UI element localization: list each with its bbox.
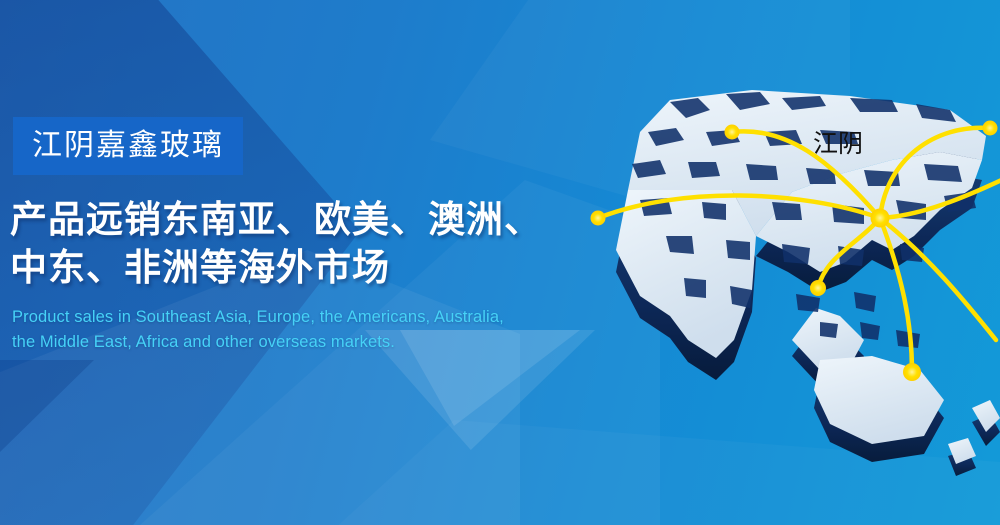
node-africa-west bbox=[591, 211, 606, 226]
world-map-graphic: 江阴 bbox=[520, 40, 1000, 480]
headline-line-2: 中东、非洲等海外市场 bbox=[10, 244, 570, 292]
node-australia bbox=[903, 363, 921, 381]
node-pacific-northeast bbox=[983, 121, 998, 136]
brand-badge-label: 江阴嘉鑫玻璃 bbox=[32, 131, 224, 161]
node-southeast-asia bbox=[810, 280, 826, 296]
background-facet-lower-dark bbox=[0, 360, 280, 525]
promo-banner: 江阴 江阴嘉鑫玻璃 产品远销东南亚、欧美、澳洲、 中东、非洲等海外市场 Prod… bbox=[0, 0, 1000, 525]
subtitle-line-2: the Middle East, Africa and other overse… bbox=[12, 330, 572, 355]
subtitle-line-1: Product sales in Southeast Asia, Europe,… bbox=[12, 305, 572, 330]
map-hub-label: 江阴 bbox=[813, 130, 863, 158]
headline-line-1: 产品远销东南亚、欧美、澳洲、 bbox=[10, 196, 570, 244]
landmass-africa bbox=[616, 190, 756, 358]
subtitle: Product sales in Southeast Asia, Europe,… bbox=[12, 305, 572, 355]
headline: 产品远销东南亚、欧美、澳洲、 中东、非洲等海外市场 bbox=[10, 196, 570, 292]
node-europe-north bbox=[725, 125, 740, 140]
brand-badge: 江阴嘉鑫玻璃 bbox=[13, 117, 243, 175]
node-hub-jiangyin bbox=[871, 209, 890, 228]
